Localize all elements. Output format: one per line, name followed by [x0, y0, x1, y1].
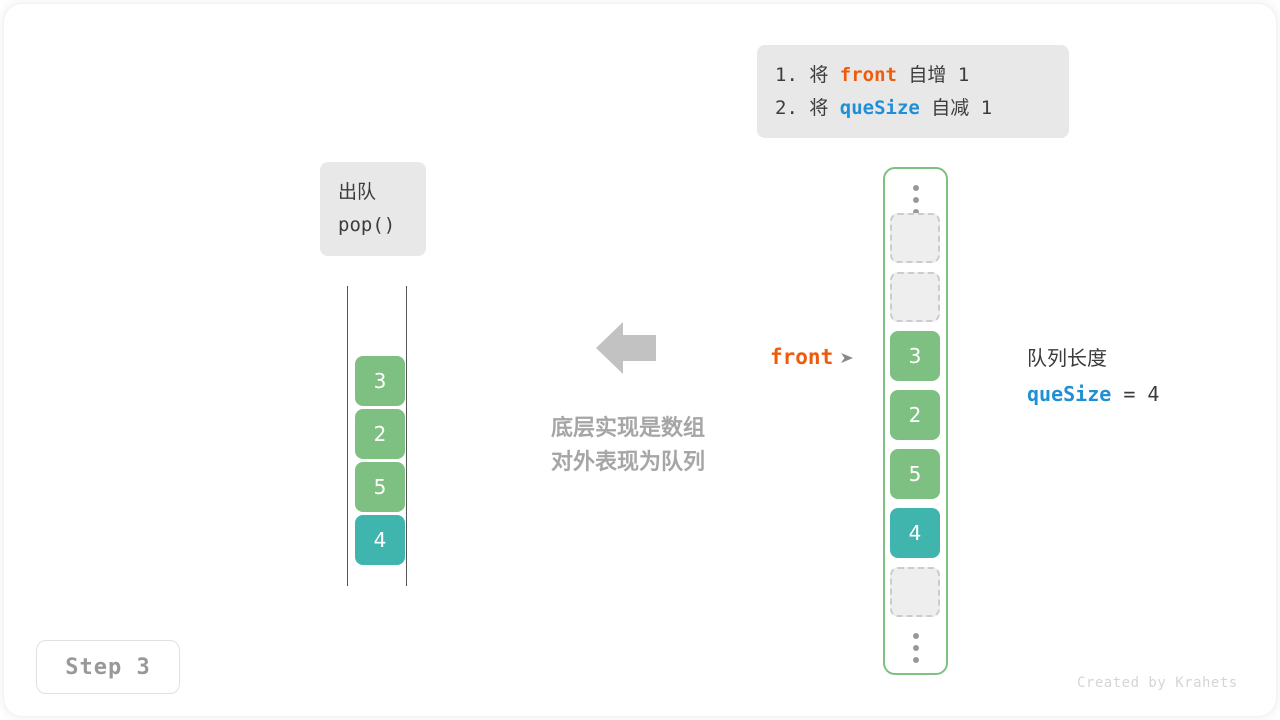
instruction-box: 1. 将 front 自增 1 2. 将 queSize 自减 1 — [757, 45, 1069, 138]
instruction-line-2-suffix: 自减 1 — [920, 97, 992, 119]
left-queue-view: 3 2 5 4 — [340, 280, 420, 592]
right-array-cell-1 — [890, 272, 940, 322]
arrow-right-small-icon — [840, 350, 854, 364]
pop-label-code: pop() — [338, 209, 426, 242]
vertical-ellipsis-icon-bottom — [913, 633, 919, 663]
arrow-left-icon — [596, 322, 656, 374]
right-array-cell-5-value: 4 — [909, 521, 922, 545]
front-pointer: front — [770, 342, 854, 372]
right-array-cell-6 — [890, 567, 940, 617]
right-array-cell-2: 3 — [890, 331, 940, 381]
center-caption: 底层实现是数组 对外表现为队列 — [528, 412, 728, 480]
left-queue-cell-0: 3 — [355, 356, 405, 406]
left-queue-cell-2-value: 5 — [374, 475, 387, 499]
quesize-annotation: 队列长度 queSize = 4 — [1027, 340, 1159, 412]
right-array-cell-3: 2 — [890, 390, 940, 440]
right-array-cell-4-value: 5 — [909, 462, 922, 486]
quesize-equals: = — [1111, 382, 1147, 406]
left-queue-cell-1: 2 — [355, 409, 405, 459]
figure-canvas: 1. 将 front 自增 1 2. 将 queSize 自减 1 出队 pop… — [0, 0, 1280, 720]
left-queue-cell-1-value: 2 — [374, 422, 387, 446]
quesize-annotation-title: 队列长度 — [1027, 340, 1159, 376]
instruction-line-1-prefix: 1. 将 — [775, 64, 840, 86]
instruction-line-2-keyword: queSize — [840, 97, 920, 119]
pop-operation-label-box: 出队 pop() — [320, 162, 426, 256]
left-queue-cell-3: 4 — [355, 515, 405, 565]
vertical-ellipsis-icon-top — [913, 185, 919, 215]
pop-label-title: 出队 — [338, 176, 426, 209]
instruction-line-2-prefix: 2. 将 — [775, 97, 840, 119]
quesize-value: 4 — [1147, 382, 1159, 406]
right-array-cell-5: 4 — [890, 508, 940, 558]
right-array-cell-4: 5 — [890, 449, 940, 499]
step-badge-label: Step 3 — [65, 655, 150, 680]
instruction-line-2: 2. 将 queSize 自减 1 — [775, 92, 1051, 125]
step-badge: Step 3 — [36, 640, 180, 694]
left-queue-cell-3-value: 4 — [374, 528, 387, 552]
instruction-line-1-suffix: 自增 1 — [897, 64, 969, 86]
right-array-cell-2-value: 3 — [909, 344, 922, 368]
instruction-line-1: 1. 将 front 自增 1 — [775, 59, 1051, 92]
right-array-cell-3-value: 2 — [909, 403, 922, 427]
right-array-view: 3 2 5 4 — [883, 167, 948, 675]
center-caption-line-2: 对外表现为队列 — [528, 446, 728, 480]
quesize-variable-name: queSize — [1027, 382, 1111, 406]
queue-rail-right — [406, 286, 407, 586]
instruction-line-1-keyword: front — [840, 64, 897, 86]
center-caption-line-1: 底层实现是数组 — [528, 412, 728, 446]
front-pointer-label: front — [770, 345, 833, 369]
watermark: Created by Krahets — [1077, 675, 1238, 691]
quesize-annotation-expression: queSize = 4 — [1027, 376, 1159, 412]
left-queue-cell-0-value: 3 — [374, 369, 387, 393]
queue-rail-left — [347, 286, 348, 586]
left-queue-cell-2: 5 — [355, 462, 405, 512]
right-array-cell-0 — [890, 213, 940, 263]
